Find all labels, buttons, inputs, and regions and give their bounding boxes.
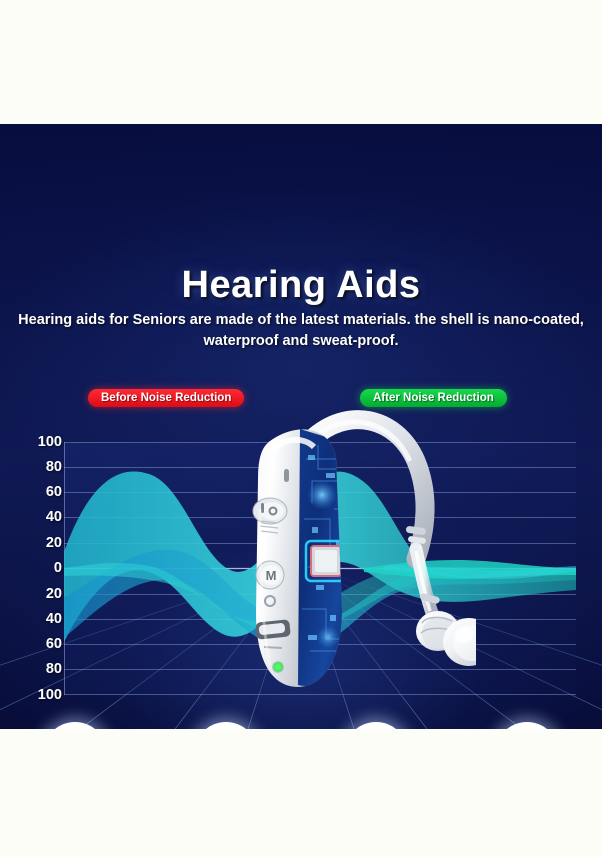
y-tick-label: 60 (22, 484, 62, 500)
badge-after-noise-reduction: After Noise Reduction (360, 389, 507, 407)
y-tick-label: 80 (22, 661, 62, 677)
chart-y-axis: 100 80 60 40 20 0 20 40 60 80 100 (22, 424, 62, 714)
badge-before-noise-reduction: Before Noise Reduction (88, 389, 244, 407)
feature-icon-circle (495, 722, 559, 729)
feature-icon-circle (344, 722, 408, 729)
y-tick-label: 20 (22, 586, 62, 602)
feature-list: Noise Reduction Invisible And Comfortabl… (0, 722, 602, 729)
y-tick-label: 80 (22, 459, 62, 475)
y-tick-label: 40 (22, 509, 62, 525)
feature-item-noise-reduction[interactable]: Noise Reduction (0, 722, 151, 729)
feature-item-digital-chip[interactable]: Hight Quality Digital Chip (452, 722, 602, 729)
y-tick-label: 20 (22, 535, 62, 551)
chart-plot-area (64, 442, 576, 695)
infographic-panel: Hearing Aids Hearing aids for Seniors ar… (0, 124, 602, 729)
y-tick-label: 100 (22, 687, 62, 703)
page-subtitle: Hearing aids for Seniors are made of the… (0, 310, 602, 352)
page-title: Hearing Aids (0, 264, 602, 307)
product-infographic: Hearing Aids Hearing aids for Seniors ar… (0, 0, 602, 857)
feature-icon-circle (43, 722, 107, 729)
y-tick-label: 0 (22, 560, 62, 576)
feature-item-long-working-hours[interactable]: Long Working Hours (301, 722, 452, 729)
noise-reduction-chart: 100 80 60 40 20 0 20 40 60 80 100 (0, 424, 602, 714)
feature-item-comfortable-wear[interactable]: Invisible And Comfortable To Wear (151, 722, 302, 729)
y-tick-label: 60 (22, 636, 62, 652)
y-tick-label: 40 (22, 611, 62, 627)
y-tick-label: 100 (22, 434, 62, 450)
feature-icon-circle (194, 722, 258, 729)
